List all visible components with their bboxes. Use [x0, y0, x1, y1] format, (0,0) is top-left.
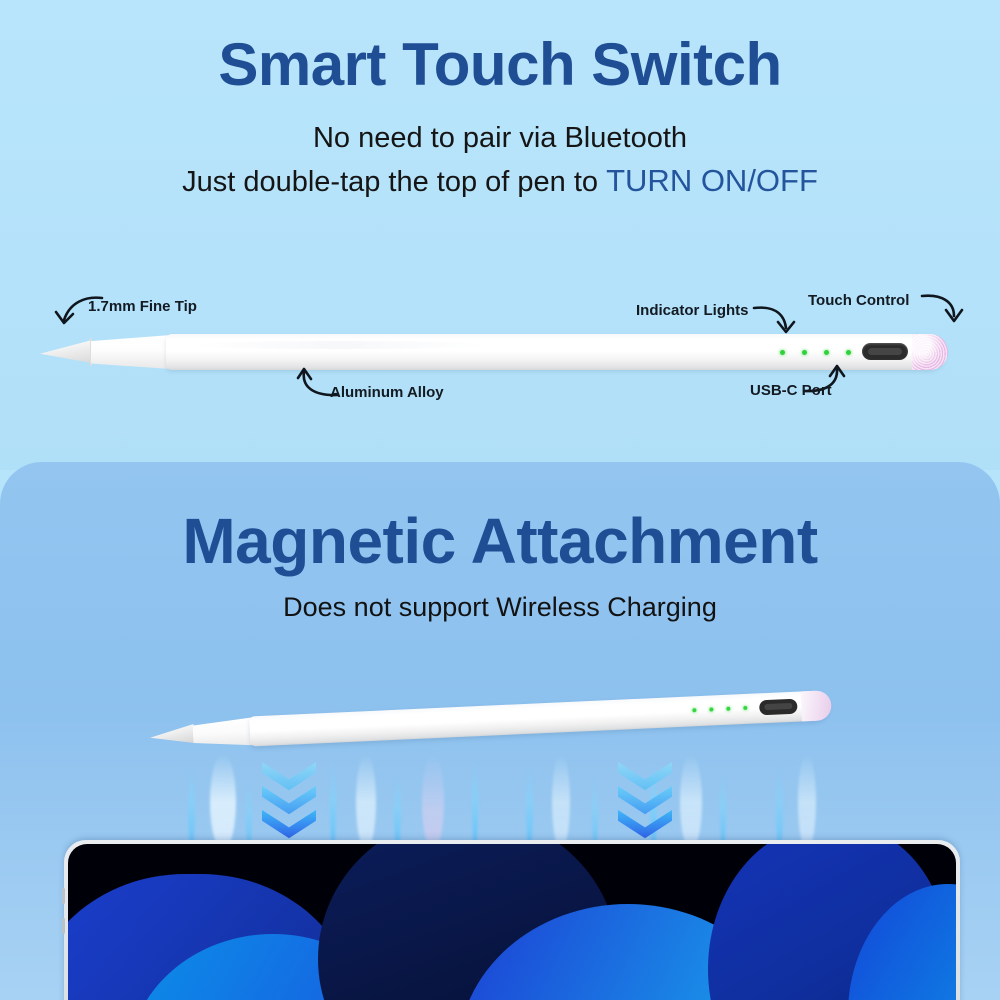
- volume-down-button[interactable]: [62, 918, 65, 934]
- section-one-subtitle-line-2: Just double-tap the top of pen to TURN O…: [0, 163, 1000, 199]
- section-two-headline: Magnetic Attachment: [0, 504, 1000, 578]
- indicator-led-1: [780, 350, 785, 355]
- indicator-lights-leader-line: [752, 300, 806, 342]
- section-two-subtitle: Does not support Wireless Charging: [0, 592, 1000, 623]
- pen-tip: [40, 340, 92, 363]
- pen-tip: [150, 724, 195, 745]
- chevron-arrow: [618, 786, 672, 816]
- touch-control-pad: [801, 690, 832, 721]
- chevron-arrow: [262, 786, 316, 816]
- callout-indicator-lights: Indicator Lights: [636, 302, 749, 319]
- volume-up-button[interactable]: [62, 888, 65, 904]
- usb-c-port: [759, 699, 798, 716]
- pen-shoulder: [91, 335, 171, 369]
- chevron-arrow: [618, 810, 672, 840]
- section-one-headline: Smart Touch Switch: [0, 30, 1000, 99]
- indicator-led-3: [824, 350, 829, 355]
- touch-control-pad: [912, 334, 948, 370]
- subtitle-line-2-accent: TURN ON/OFF: [606, 163, 818, 198]
- chevron-arrow: [618, 762, 672, 792]
- subtitle-line-2-prefix: Just double-tap the top of pen to: [182, 166, 606, 198]
- tablet-device: [64, 840, 960, 1000]
- magnetic-field-glow: [180, 752, 820, 850]
- chevron-arrow: [262, 810, 316, 840]
- touch-control-leader-line: [920, 290, 976, 334]
- callout-fine-tip: 1.7mm Fine Tip: [88, 298, 197, 315]
- callout-touch-control: Touch Control: [808, 292, 909, 309]
- tablet-screen[interactable]: [68, 844, 956, 1000]
- section-one-subtitle-line-1: No need to pair via Bluetooth: [0, 122, 1000, 155]
- chevron-arrow: [262, 762, 316, 792]
- callout-aluminum-alloy: Aluminum Alloy: [330, 384, 444, 401]
- pen-shoulder: [192, 717, 253, 748]
- indicator-led-4: [846, 350, 851, 355]
- indicator-led-2: [802, 350, 807, 355]
- product-infographic: Smart Touch Switch No need to pair via B…: [0, 0, 1000, 1000]
- callout-usb-c-port: USB-C Port: [750, 382, 832, 399]
- pen-body-highlight: [190, 341, 490, 349]
- usb-c-port: [862, 343, 908, 360]
- section-smart-touch-switch: Smart Touch Switch No need to pair via B…: [0, 0, 1000, 470]
